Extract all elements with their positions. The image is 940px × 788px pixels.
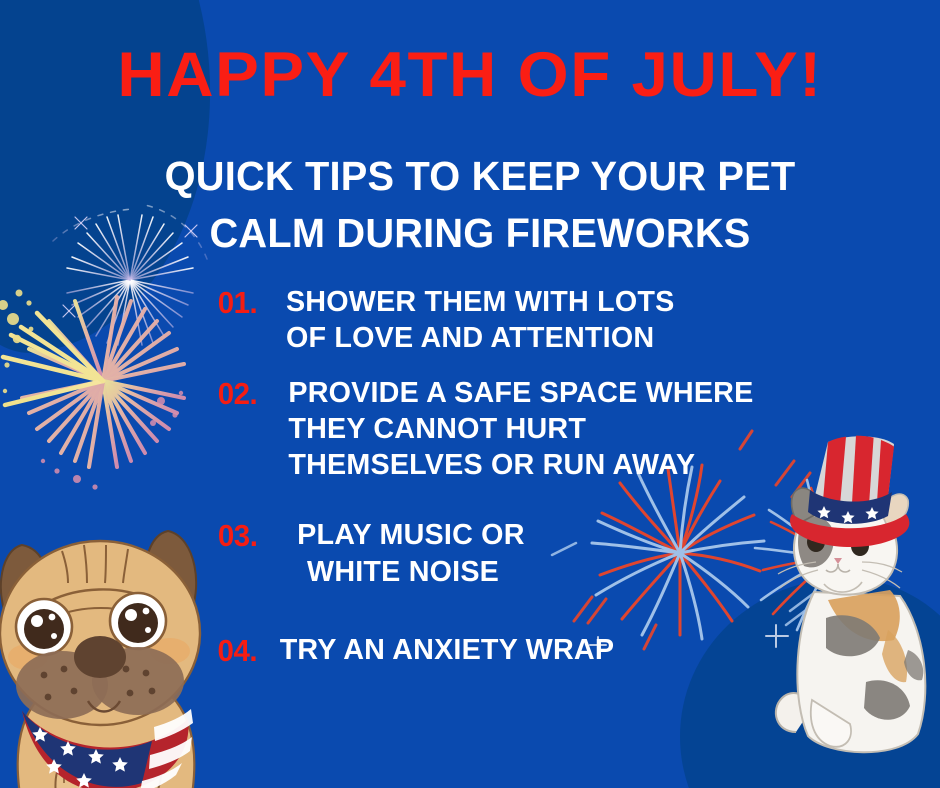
tip-2-line-2: THEY CANNOT HURT [288,411,753,447]
tips-list: 01. SHOWER THEM WITH LOTS OF LOVE AND AT… [216,284,856,684]
tip-2-line-1: PROVIDE A SAFE SPACE WHERE [288,375,753,411]
pug-dog-illustration [0,505,222,788]
tip-3-line-1: PLAY MUSIC OR [297,517,525,553]
fireworks-left-large-icon [0,265,215,495]
tip-1-line-2: OF LOVE AND ATTENTION [286,320,675,356]
subtitle-line-2: CALM DURING FIREWORKS [141,205,820,262]
tip-text-2: PROVIDE A SAFE SPACE WHERE THEY CANNOT H… [288,375,753,484]
tip-number-2: 02. [218,375,285,413]
calico-cat-illustration [768,432,940,772]
tip-number-4: 04. [218,632,277,670]
tip-item-3: 03. PLAY MUSIC OR WHITE NOISE [216,517,856,590]
tip-item-1: 01. SHOWER THEM WITH LOTS OF LOVE AND AT… [216,284,856,357]
tip-3-line-2: WHITE NOISE [297,554,525,590]
tip-2-line-3: THEMSELVES OR RUN AWAY [288,447,753,483]
tip-text-3: PLAY MUSIC OR WHITE NOISE [293,517,524,590]
tip-number-3: 03. [218,517,290,555]
tip-number-1: 01. [218,284,283,322]
tip-text-1: SHOWER THEM WITH LOTS OF LOVE AND ATTENT… [286,284,675,357]
tip-4-line-1: TRY AN ANXIETY WRAP [280,632,614,668]
fourth-of-july-pet-tips-poster: HAPPY 4TH OF JULY! QUICK TIPS TO KEEP YO… [0,0,940,788]
subtitle-line-1: QUICK TIPS TO KEEP YOUR PET [141,148,820,205]
tip-item-2: 02. PROVIDE A SAFE SPACE WHERE THEY CANN… [216,375,856,484]
tip-text-4: TRY AN ANXIETY WRAP [280,632,614,668]
tip-item-4: 04. TRY AN ANXIETY WRAP [216,632,856,670]
poster-subtitle: QUICK TIPS TO KEEP YOUR PET CALM DURING … [141,148,820,263]
tip-1-line-1: SHOWER THEM WITH LOTS [286,284,675,320]
poster-title: HAPPY 4TH OF JULY! [0,44,940,107]
